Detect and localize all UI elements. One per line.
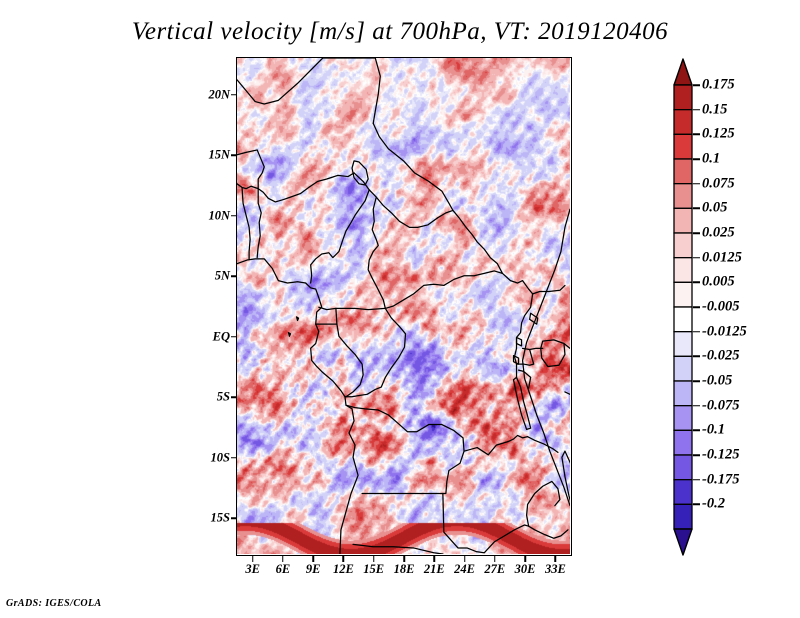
y-axis-tick-label: 15S [211, 511, 230, 526]
colorbar-tick-label: 0.075 [702, 175, 735, 192]
colorbar-tick-label: -0.175 [702, 471, 739, 488]
colorbar-tick-label: 0.175 [702, 77, 735, 94]
colorbar-tick-label: 0.125 [702, 126, 735, 143]
y-axis-tick-label: 10N [208, 208, 230, 223]
colorbar-tick-label: -0.005 [702, 299, 739, 316]
colorbar-tick-label: -0.1 [702, 422, 725, 439]
x-axis-tick-label: 3E [245, 562, 260, 577]
colorbar-tick-label: 0.005 [702, 274, 735, 291]
colorbar-tick-mark [693, 282, 700, 284]
x-axis-tick-label: 33E [545, 562, 566, 577]
footer-credit: GrADS: IGES/COLA [6, 598, 102, 609]
colorbar-tick-label: 0.1 [702, 151, 720, 168]
y-axis-tick-mark [231, 155, 237, 157]
x-axis-tick-mark [312, 556, 314, 562]
colorbar-tick-label: 0.05 [702, 200, 727, 217]
x-axis-tick-mark [464, 556, 466, 562]
x-axis-tick-mark [282, 556, 284, 562]
x-axis-tick-label: 15E [363, 562, 384, 577]
y-axis-tick-label: 5N [215, 269, 230, 284]
colorbar-tick-label: 0.0125 [702, 249, 742, 266]
y-axis-tick-mark [231, 276, 237, 278]
vertical-velocity-field [237, 58, 570, 554]
colorbar-tick-label: -0.0125 [702, 323, 747, 340]
x-axis-tick-mark [252, 556, 254, 562]
y-axis-tick-label: 20N [208, 87, 230, 102]
colorbar-tick-mark [693, 109, 700, 111]
y-axis-tick-mark [231, 517, 237, 519]
colorbar-tick-label: -0.125 [702, 447, 739, 464]
colorbar-tick-label: -0.025 [702, 348, 739, 365]
colorbar-tick-mark [693, 454, 700, 456]
x-axis-tick-label: 24E [454, 562, 475, 577]
y-axis-tick-label: EQ [213, 329, 230, 344]
colorbar-tick-mark [693, 134, 700, 136]
colorbar-bands [673, 57, 693, 557]
colorbar-tick-mark [693, 331, 700, 333]
colorbar-tick-mark [693, 84, 700, 86]
colorbar-tick-mark [693, 356, 700, 358]
colorbar [673, 57, 693, 557]
colorbar-tick-mark [693, 430, 700, 432]
colorbar-tick-mark [693, 208, 700, 210]
x-axis-tick-label: 6E [276, 562, 291, 577]
colorbar-tick-label: 0.15 [702, 101, 727, 118]
colorbar-tick-label: -0.075 [702, 397, 739, 414]
x-axis-tick-label: 27E [484, 562, 505, 577]
y-axis: 20N15N10N5NEQ5S10S15S [186, 0, 230, 618]
x-axis-tick-label: 9E [306, 562, 321, 577]
y-axis-tick-mark [231, 457, 237, 459]
y-axis-tick-label: 10S [211, 450, 230, 465]
colorbar-tick-mark [693, 183, 700, 185]
colorbar-tick-mark [693, 158, 700, 160]
x-axis-tick-mark [343, 556, 345, 562]
x-axis-tick-mark [403, 556, 405, 562]
x-axis-tick-mark [434, 556, 436, 562]
x-axis-tick-label: 30E [515, 562, 536, 577]
colorbar-tick-mark [693, 504, 700, 506]
x-axis-tick-mark [494, 556, 496, 562]
x-axis-tick-mark [524, 556, 526, 562]
colorbar-tick-label: -0.2 [702, 496, 725, 513]
y-axis-tick-mark [231, 396, 237, 398]
colorbar-tick-mark [693, 306, 700, 308]
x-axis-tick-mark [555, 556, 557, 562]
y-axis-tick-mark [231, 94, 237, 96]
y-axis-tick-label: 15N [208, 148, 230, 163]
y-axis-tick-label: 5S [217, 390, 230, 405]
colorbar-tick-label: 0.025 [702, 225, 735, 242]
x-axis-tick-label: 18E [394, 562, 415, 577]
y-axis-tick-mark [231, 215, 237, 217]
colorbar-tick-mark [693, 232, 700, 234]
x-axis-tick-label: 12E [333, 562, 354, 577]
colorbar-tick-mark [693, 479, 700, 481]
colorbar-tick-label: -0.05 [702, 373, 732, 390]
map-plot-area [236, 57, 572, 556]
page-title: Vertical velocity [m/s] at 700hPa, VT: 2… [0, 18, 800, 46]
colorbar-tick-mark [693, 380, 700, 382]
colorbar-tick-mark [693, 257, 700, 259]
x-axis-tick-mark [373, 556, 375, 562]
colorbar-tick-mark [693, 405, 700, 407]
x-axis-tick-label: 21E [424, 562, 445, 577]
y-axis-tick-mark [231, 336, 237, 338]
